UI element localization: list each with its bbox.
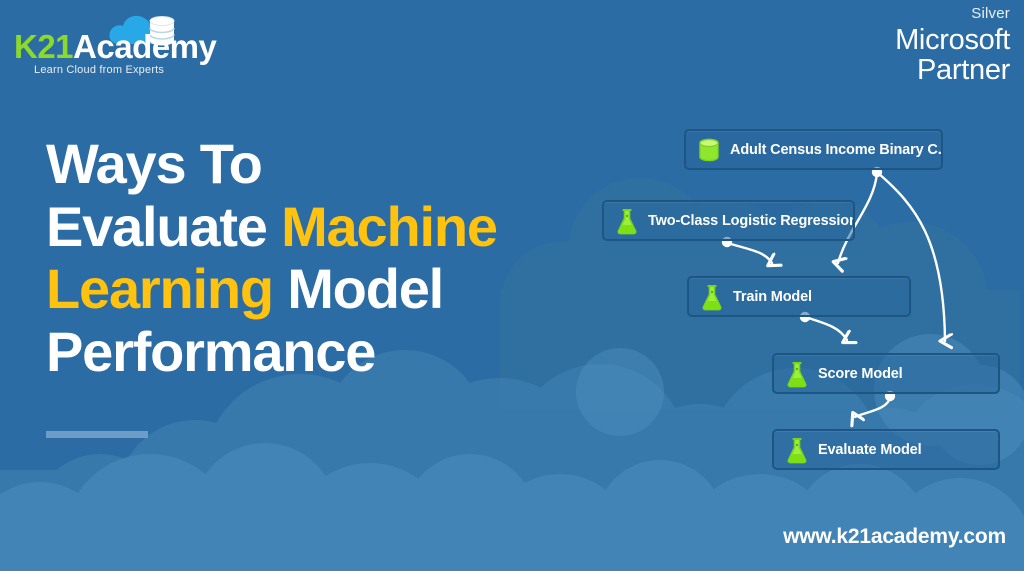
pipeline-node-algorithm[interactable]: Two-Class Logistic Regression [602, 200, 855, 241]
connector-train-to-score [805, 317, 847, 340]
flask-icon [784, 360, 810, 388]
website-url[interactable]: www.k21academy.com [783, 525, 1006, 549]
ml-pipeline-diagram: Adult Census Income Binary C.. Two-Class… [0, 0, 1024, 571]
database-cylinder-icon [696, 136, 722, 164]
flask-icon [784, 436, 810, 464]
infographic-canvas: K21Academy Learn Cloud from Experts Silv… [0, 0, 1024, 571]
connector-score-to-evaluate [855, 397, 890, 417]
node-label: Two-Class Logistic Regression [648, 213, 853, 229]
node-label: Train Model [733, 289, 812, 305]
node-label: Adult Census Income Binary C.. [730, 142, 941, 158]
pipeline-node-dataset[interactable]: Adult Census Income Binary C.. [684, 129, 943, 170]
node-label: Evaluate Model [818, 442, 921, 458]
flask-icon [614, 207, 640, 235]
connector-algorithm-to-train [727, 243, 772, 263]
pipeline-node-train-model[interactable]: Train Model [687, 276, 911, 317]
flask-icon [699, 283, 725, 311]
pipeline-node-score-model[interactable]: Score Model [772, 353, 1000, 394]
pipeline-node-evaluate-model[interactable]: Evaluate Model [772, 429, 1000, 470]
node-label: Score Model [818, 366, 903, 382]
